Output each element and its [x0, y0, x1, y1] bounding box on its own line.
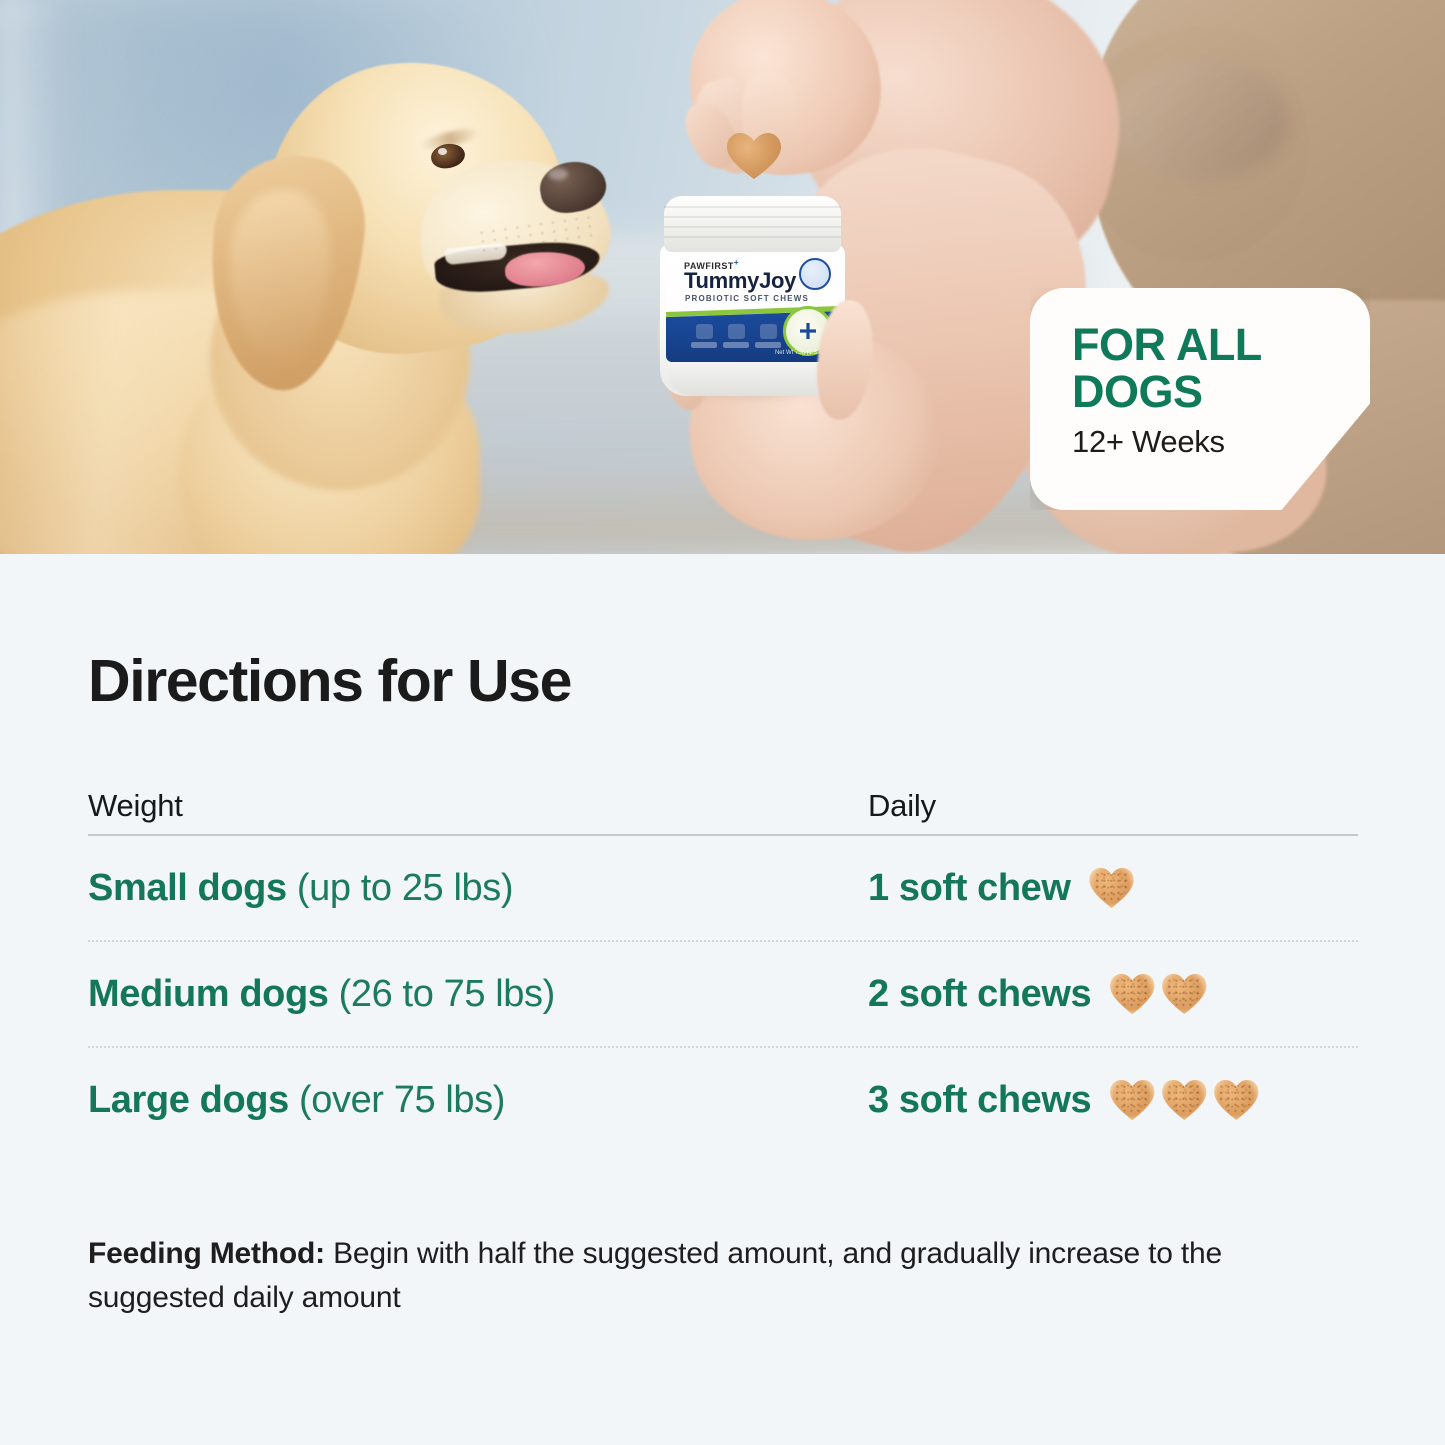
- table-row: Large dogs (over 75 lbs) 3 soft chews: [88, 1048, 1358, 1152]
- jar-benefit-gut-icon: [696, 324, 713, 339]
- hero-photo: PAWFIRST+ TummyJoy PROBIOTIC SOFT CHEWS …: [0, 0, 1445, 554]
- dog-weight-range: (26 to 75 lbs): [339, 973, 555, 1015]
- jar-benefit-gut-label: [691, 342, 717, 348]
- held-soft-chew-icon: [726, 132, 782, 180]
- dose-label: 2 soft chews: [868, 973, 1091, 1016]
- dog-size-label: Medium dogs: [88, 973, 329, 1015]
- shirt-fold: [1110, 60, 1290, 180]
- jar-benefit-digestive-icon: [728, 324, 745, 339]
- daily-cell: 3 soft chews: [868, 1079, 1358, 1122]
- chew-icons: [1089, 867, 1135, 909]
- column-header-daily: Daily: [868, 788, 1358, 824]
- product-infographic: PAWFIRST+ TummyJoy PROBIOTIC SOFT CHEWS …: [0, 0, 1445, 1445]
- jar-product-name: TummyJoy: [684, 268, 796, 294]
- dose-label: 3 soft chews: [868, 1079, 1091, 1122]
- daily-cell: 1 soft chew: [868, 867, 1358, 910]
- feeding-method-label: Feeding Method:: [88, 1237, 325, 1270]
- column-header-weight: Weight: [88, 788, 868, 824]
- dose-label: 1 soft chew: [868, 867, 1071, 910]
- dog-size-label: Small dogs: [88, 867, 287, 909]
- badge-line-2: DOGS: [1072, 367, 1370, 417]
- dog-eye-highlight: [438, 148, 447, 155]
- dog-weight-range: (up to 25 lbs): [297, 867, 513, 909]
- chew-icons: [1109, 1079, 1259, 1121]
- soft-chew-icon: [1161, 1079, 1207, 1121]
- jar-benefit-immune-label: [755, 342, 781, 348]
- dosing-table: Weight Daily Small dogs (up to 25 lbs) 1…: [88, 766, 1358, 1152]
- soft-chew-icon: [1109, 973, 1155, 1015]
- daily-cell: 2 soft chews: [868, 973, 1358, 1016]
- jar-benefit-immune-icon: [760, 324, 777, 339]
- brand-plus-mark: +: [734, 258, 739, 267]
- golden-retriever-dog: [0, 40, 640, 554]
- table-row: Small dogs (up to 25 lbs) 1 soft chew: [88, 836, 1358, 940]
- jar-product-subtitle: PROBIOTIC SOFT CHEWS: [685, 294, 809, 303]
- soft-chew-icon: [1109, 1079, 1155, 1121]
- for-all-dogs-badge-content: FOR ALL DOGS 12+ Weeks: [1030, 288, 1370, 510]
- dog-weight-range: (over 75 lbs): [299, 1079, 505, 1121]
- badge-line-1: FOR ALL: [1072, 322, 1370, 367]
- badge-age-text: 12+ Weeks: [1072, 425, 1370, 459]
- soft-chew-icon: [1213, 1079, 1259, 1121]
- weight-cell: Small dogs (up to 25 lbs): [88, 867, 868, 910]
- table-header-row: Weight Daily: [88, 766, 1358, 824]
- jar-seal-icon: [799, 258, 831, 290]
- weight-cell: Medium dogs (26 to 75 lbs): [88, 973, 868, 1016]
- dog-size-label: Large dogs: [88, 1079, 289, 1121]
- soft-chew-icon: [1161, 973, 1207, 1015]
- soft-chew-icon: [1089, 867, 1135, 909]
- weight-cell: Large dogs (over 75 lbs): [88, 1079, 868, 1122]
- chew-icons: [1109, 973, 1207, 1015]
- feeding-method-note: Feeding Method: Begin with half the sugg…: [88, 1232, 1363, 1320]
- jar-base: [668, 362, 837, 396]
- dog-nose-highlight: [548, 168, 568, 180]
- page-title: Directions for Use: [88, 647, 571, 715]
- table-row: Medium dogs (26 to 75 lbs) 2 soft chews: [88, 942, 1358, 1046]
- jar-lid: [664, 196, 841, 252]
- jar-label: PAWFIRST+ TummyJoy PROBIOTIC SOFT CHEWS …: [666, 252, 839, 362]
- jar-benefit-digestive-label: [723, 342, 749, 348]
- directions-section: Directions for Use Weight Daily Small do…: [0, 554, 1445, 1445]
